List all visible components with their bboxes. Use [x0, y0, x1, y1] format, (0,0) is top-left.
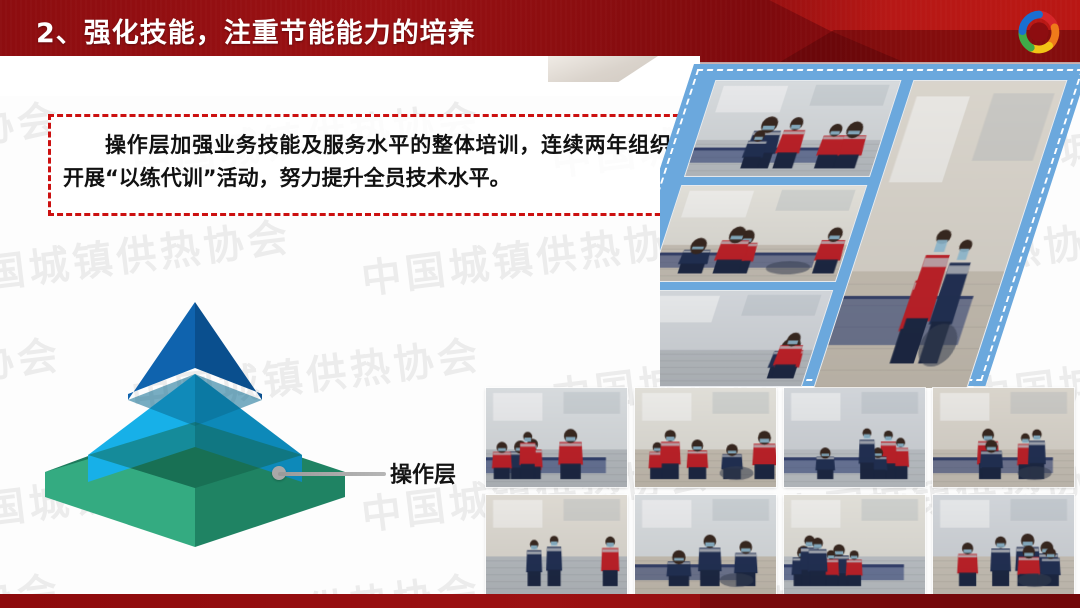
photo-office-training[interactable]	[486, 495, 627, 594]
footer-bar-shade	[700, 594, 1080, 608]
callout-textbox: 操作层加强业务技能及服务水平的整体培训，连续两年组织开展“以练代训”活动，努力提…	[48, 114, 688, 216]
photo-indoor-equipment[interactable]	[660, 290, 833, 387]
photo-classroom-computers[interactable]	[486, 388, 627, 487]
photo-grid-bottom	[486, 388, 1074, 594]
photo-control-panel[interactable]	[933, 388, 1074, 487]
photo-helmet-inspection[interactable]	[635, 388, 776, 487]
pyramid-callout-line	[278, 472, 386, 476]
pyramid-diagram	[40, 282, 350, 552]
association-ring-logo	[1016, 9, 1062, 55]
photo-meeting-room[interactable]	[684, 80, 901, 177]
callout-text: 操作层加强业务技能及服务水平的整体培训，连续两年组织开展“以练代训”活动，努力提…	[51, 117, 685, 194]
collage-photo-grid	[660, 66, 1080, 384]
slide-canvas: 中国城镇供热协会中国城镇供热协会中国城镇供热协会中国城镇供热协会中国城镇供热协会…	[0, 0, 1080, 608]
photo-monitoring-center[interactable]	[933, 495, 1074, 594]
photo-pump-repair[interactable]	[784, 388, 925, 487]
pyramid-label-operation-layer: 操作层	[390, 457, 456, 489]
photo-collage-slanted	[660, 62, 1080, 388]
photo-frequency-system[interactable]	[784, 495, 925, 594]
page-title: 2、强化技能，注重节能能力的培养	[36, 11, 476, 50]
photo-outdoor-tools[interactable]	[660, 185, 867, 282]
photo-equipment-room[interactable]	[635, 495, 776, 594]
header-fold-tab	[548, 56, 658, 82]
